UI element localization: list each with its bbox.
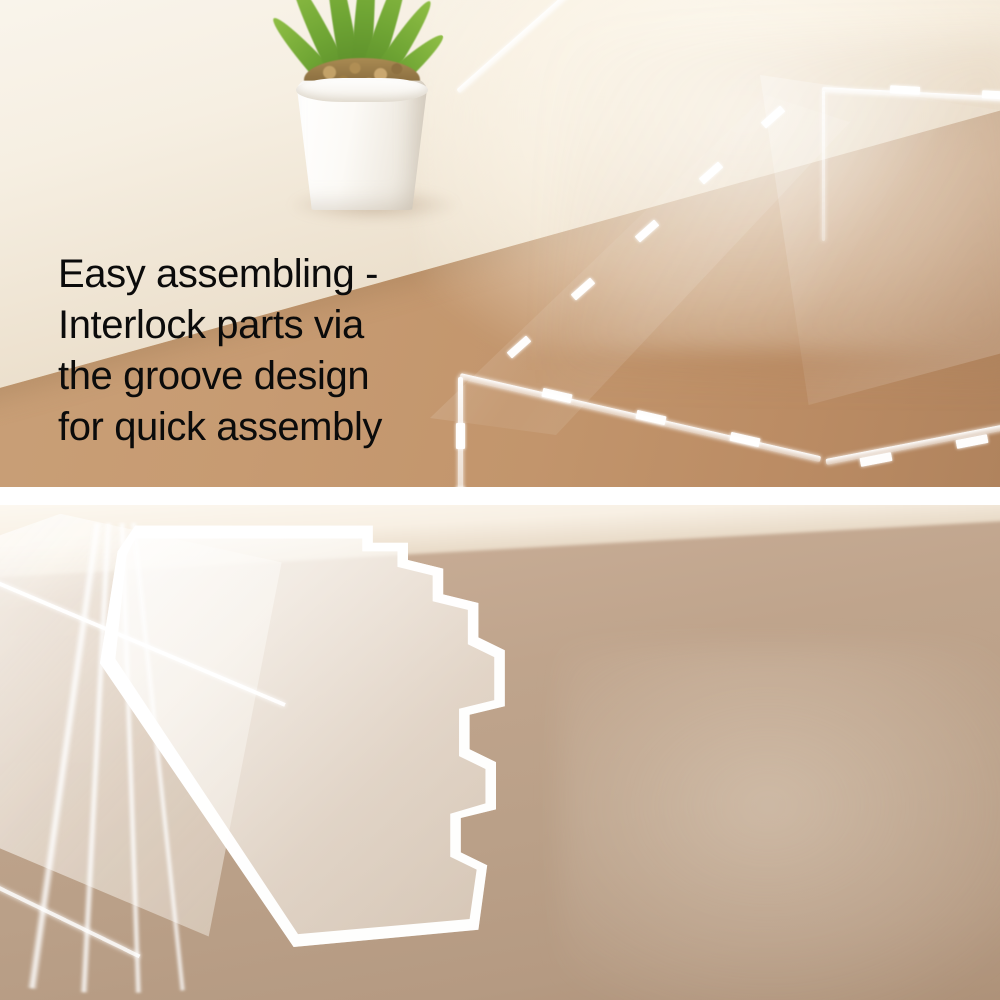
case-top-face-right xyxy=(760,75,1000,405)
groove-notch xyxy=(982,90,1000,100)
panel-caption-top: Easy assembling - Interlock parts via th… xyxy=(58,249,382,453)
easy-assembling-panel: Easy assembling - Interlock parts via th… xyxy=(0,0,1000,487)
protective-film-panel: Protective film - Double -sided protecti… xyxy=(0,505,1000,1000)
acrylic-case xyxy=(430,55,1000,487)
groove-notch xyxy=(456,423,465,449)
product-feature-image: Easy assembling - Interlock parts via th… xyxy=(0,0,1000,1000)
panel-divider xyxy=(0,487,1000,505)
soft-light-glow xyxy=(560,645,1000,1000)
case-edge-vertical-back xyxy=(822,91,825,241)
groove-notch xyxy=(890,85,920,95)
pot-rim xyxy=(296,78,428,102)
